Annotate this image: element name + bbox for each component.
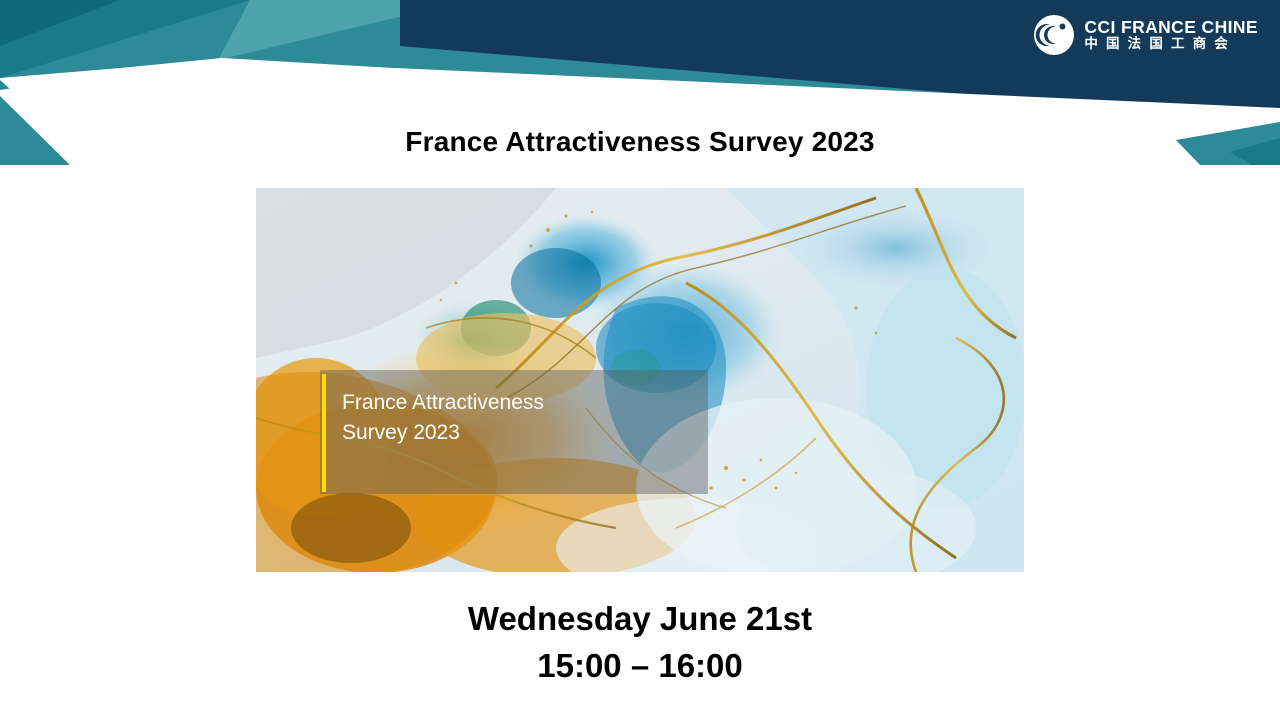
logo-name-en: CCI FRANCE CHINE: [1084, 18, 1258, 37]
cci-france-chine-logo: CCI FRANCE CHINE 中 国 法 国 工 商 会: [1033, 14, 1258, 56]
image-caption-line2: Survey 2023: [342, 418, 642, 448]
cover-image: France Attractiveness Survey 2023: [256, 188, 1024, 572]
presentation-slide: CCI FRANCE CHINE 中 国 法 国 工 商 会 France At…: [0, 0, 1280, 720]
cci-circle-icon: [1033, 14, 1075, 56]
image-caption-accent-bar: [322, 374, 326, 492]
event-datetime: Wednesday June 21st 15:00 – 16:00: [0, 596, 1280, 690]
event-time: 15:00 – 16:00: [0, 643, 1280, 690]
image-caption-text: France Attractiveness Survey 2023: [342, 388, 642, 449]
event-date: Wednesday June 21st: [0, 596, 1280, 643]
image-caption-line1: France Attractiveness: [342, 388, 642, 418]
logo-name-zh: 中 国 法 国 工 商 会: [1084, 37, 1258, 52]
page-title: France Attractiveness Survey 2023: [0, 126, 1280, 158]
logo-text-block: CCI FRANCE CHINE 中 国 法 国 工 商 会: [1084, 18, 1258, 51]
